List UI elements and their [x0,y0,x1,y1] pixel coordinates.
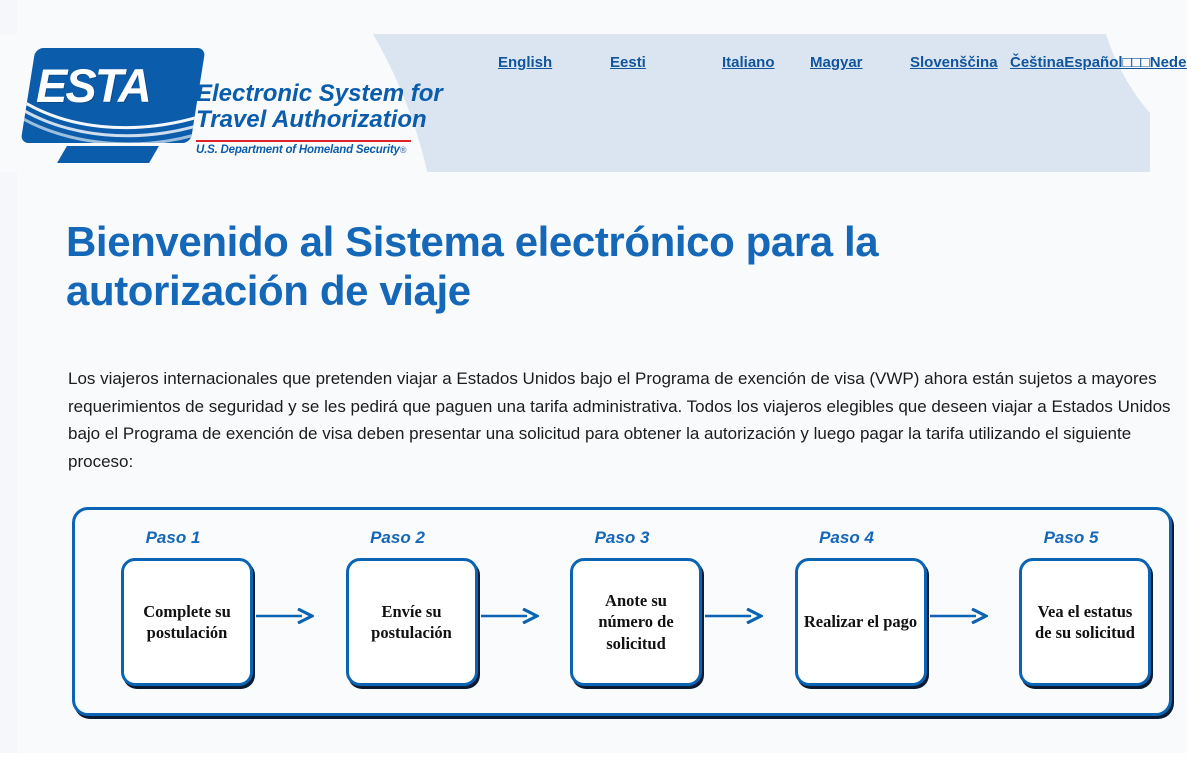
step-box[interactable]: Vea el estatus de su solicitud [1019,558,1151,686]
process-steps-container: Paso 1 Complete su postulación Paso 2 En… [72,507,1172,716]
language-link[interactable]: Slovenščina [910,52,1010,73]
esta-logo-red-rule [196,140,411,142]
esta-logo-mark: ESTA [20,48,205,143]
step-label: Paso 5 [995,528,1147,548]
language-link[interactable]: Magyar [810,52,910,73]
process-step: Paso 3 Anote su número de solicitud [546,510,698,713]
step-arrow [705,510,763,713]
process-step: Paso 4 Realizar el pago [771,510,923,713]
language-link[interactable]: English [498,52,610,73]
language-link[interactable]: Čeština [1010,52,1064,73]
esta-tagline-line2: Travel Authorization [196,107,446,133]
process-step: Paso 1 Complete su postulación [97,510,249,713]
arrow-right-icon [705,608,763,624]
step-arrow [481,510,539,713]
arrow-right-icon [930,608,988,624]
arrow-right-icon [481,608,539,624]
intro-paragraph: Los viajeros internacionales que pretend… [68,365,1180,475]
step-label: Paso 4 [771,528,923,548]
language-selector[interactable]: English Eesti Italiano Magyar Slovenščin… [498,52,1187,73]
esta-logo-tagline: Electronic System for Travel Authorizati… [196,81,446,133]
language-link[interactable]: Español [1064,52,1122,73]
dhs-agency-text: U.S. Department of Homeland Security [196,144,400,156]
esta-welcome-page: ESTA Electronic System for Travel Author… [0,0,1187,783]
step-box[interactable]: Anote su número de solicitud [570,558,702,686]
registered-trademark-icon: ® [400,145,406,155]
esta-logo-footer-bar [57,146,159,163]
page-title: Bienvenido al Sistema electrónico para l… [66,218,1126,315]
language-link[interactable]: □□□ [1123,52,1150,73]
step-label: Paso 2 [322,528,474,548]
esta-tagline-line1: Electronic System for [196,81,446,107]
process-step: Paso 2 Envíe su postulación [322,510,474,713]
arrow-right-icon [256,608,314,624]
step-arrow [930,510,988,713]
process-step: Paso 5 Vea el estatus de su solicitud [995,510,1147,713]
esta-logo[interactable]: ESTA Electronic System for Travel Author… [18,48,438,166]
step-box[interactable]: Realizar el pago [795,558,927,686]
language-link[interactable]: Eesti [610,52,722,73]
esta-logo-wordmark: ESTA [36,62,206,109]
step-label: Paso 3 [546,528,698,548]
step-box[interactable]: Complete su postulación [121,558,253,686]
dhs-agency-label: U.S. Department of Homeland Security® [196,144,406,156]
step-label: Paso 1 [97,528,249,548]
step-box[interactable]: Envíe su postulación [346,558,478,686]
language-link[interactable]: Nederlands [1150,52,1187,73]
step-arrow [256,510,314,713]
language-link[interactable]: Italiano [722,52,810,73]
